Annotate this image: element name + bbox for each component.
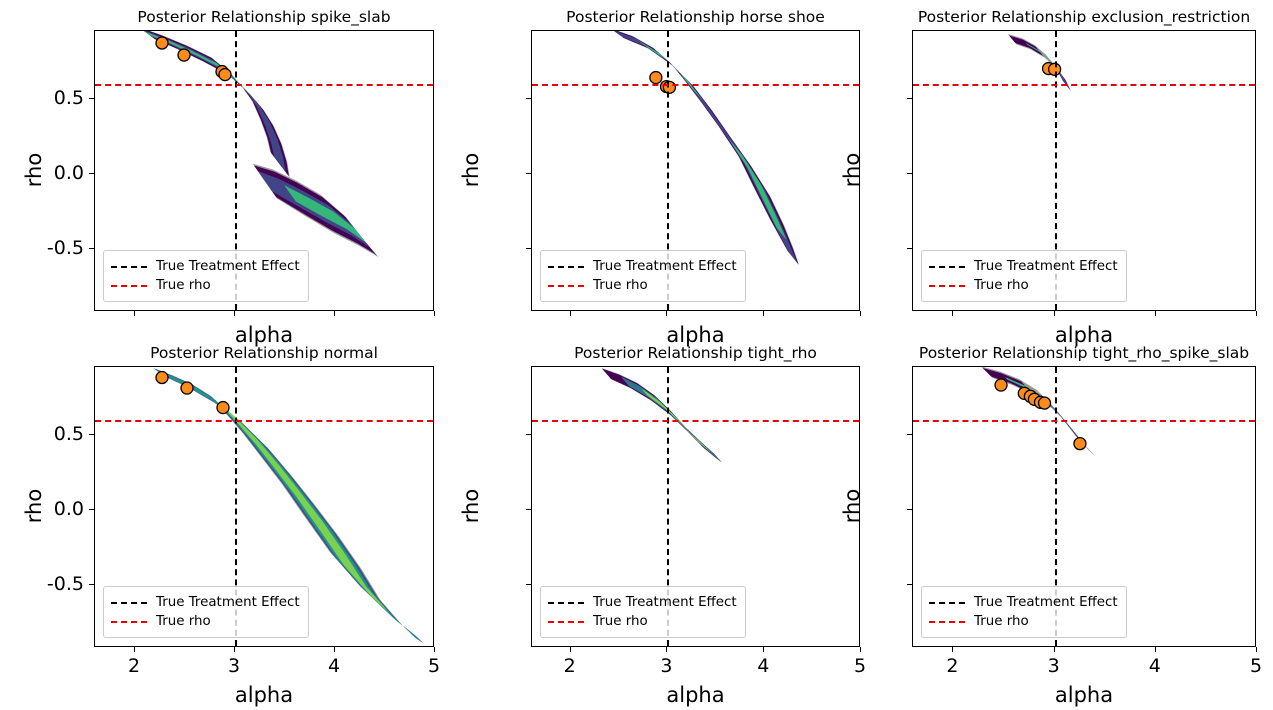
y-tick	[89, 434, 94, 435]
legend: True Treatment EffectTrue rho	[103, 586, 309, 638]
y-tick	[89, 98, 94, 99]
x-axis-label: alpha	[912, 683, 1256, 707]
x-tick	[666, 647, 667, 652]
x-tick	[1155, 311, 1156, 316]
legend: True Treatment EffectTrue rho	[103, 250, 309, 302]
legend: True Treatment EffectTrue rho	[540, 250, 746, 302]
legend-line-swatch	[548, 285, 584, 287]
posterior-sample-point	[219, 69, 231, 81]
plot-area: True Treatment EffectTrue rho	[531, 366, 860, 647]
y-tick-label: -0.5	[20, 237, 84, 259]
x-tick	[570, 647, 571, 652]
x-tick	[334, 647, 335, 652]
plot-area: True Treatment EffectTrue rho	[912, 30, 1256, 311]
plot-area: True Treatment EffectTrue rho	[94, 366, 434, 647]
x-axis-label: alpha	[94, 683, 434, 707]
legend-label: True Treatment Effect	[593, 593, 737, 612]
x-tick-label: 2	[946, 655, 958, 677]
legend-entry: True Treatment Effect	[929, 257, 1118, 276]
y-tick	[526, 248, 531, 249]
y-tick	[907, 584, 912, 585]
true-rho-line	[532, 420, 859, 422]
legend: True Treatment EffectTrue rho	[540, 586, 746, 638]
legend-entry: True rho	[111, 612, 300, 631]
y-axis-label: rho	[459, 110, 483, 230]
legend-label: True rho	[593, 276, 648, 295]
y-tick	[89, 584, 94, 585]
legend: True Treatment EffectTrue rho	[921, 250, 1127, 302]
x-tick-label: 2	[564, 655, 576, 677]
y-tick	[526, 173, 531, 174]
legend-line-swatch	[929, 602, 965, 604]
x-tick	[1256, 311, 1257, 316]
x-tick	[234, 311, 235, 316]
legend-entry: True rho	[548, 276, 737, 295]
legend-entry: True Treatment Effect	[548, 593, 737, 612]
x-axis-label: alpha	[531, 683, 860, 707]
y-tick	[907, 248, 912, 249]
posterior-sample-point	[1039, 397, 1051, 409]
y-tick-label: 0.5	[20, 423, 84, 445]
x-tick-label: 3	[1048, 655, 1060, 677]
panel-title: Posterior Relationship exclusion_restric…	[792, 8, 1273, 26]
panel-title: Posterior Relationship tight_rho_spike_s…	[792, 344, 1273, 362]
y-axis-label: rho	[840, 110, 864, 230]
x-tick	[234, 647, 235, 652]
legend-entry: True rho	[929, 612, 1118, 631]
true-rho-line	[913, 84, 1255, 86]
x-tick	[1054, 647, 1055, 652]
y-axis-label: rho	[22, 446, 46, 566]
posterior-sample-point	[650, 72, 662, 84]
x-tick-label: 4	[757, 655, 769, 677]
posterior-sample-point	[181, 382, 193, 394]
plot-area: True Treatment EffectTrue rho	[912, 366, 1256, 647]
posterior-sample-point	[1074, 438, 1086, 450]
legend-label: True rho	[156, 612, 211, 631]
legend-label: True Treatment Effect	[974, 257, 1118, 276]
x-tick	[1054, 311, 1055, 316]
x-tick	[1155, 647, 1156, 652]
y-tick-label: 0.5	[20, 87, 84, 109]
posterior-sample-point	[156, 37, 168, 49]
x-tick-label: 5	[428, 655, 440, 677]
legend-line-swatch	[929, 266, 965, 268]
legend-line-swatch	[548, 266, 584, 268]
legend-entry: True Treatment Effect	[548, 257, 737, 276]
true-rho-line	[913, 420, 1255, 422]
legend-line-swatch	[929, 621, 965, 623]
y-axis-label: rho	[459, 446, 483, 566]
y-tick	[526, 584, 531, 585]
x-tick	[860, 647, 861, 652]
posterior-sample-point	[217, 402, 229, 414]
true-rho-line	[532, 84, 859, 86]
y-tick	[89, 173, 94, 174]
legend-label: True Treatment Effect	[974, 593, 1118, 612]
y-tick	[907, 173, 912, 174]
legend-entry: True Treatment Effect	[111, 593, 300, 612]
legend-label: True rho	[974, 612, 1029, 631]
legend-label: True rho	[974, 276, 1029, 295]
y-axis-label: rho	[840, 446, 864, 566]
posterior-sample-point	[156, 372, 168, 384]
legend-line-swatch	[111, 621, 147, 623]
x-tick	[334, 311, 335, 316]
legend-label: True rho	[593, 612, 648, 631]
y-tick	[89, 248, 94, 249]
y-tick	[526, 434, 531, 435]
x-tick-label: 4	[328, 655, 340, 677]
true-rho-line	[95, 84, 433, 86]
x-tick	[1256, 647, 1257, 652]
x-tick-label: 3	[228, 655, 240, 677]
legend-entry: True rho	[111, 276, 300, 295]
x-tick-label: 4	[1149, 655, 1161, 677]
x-tick-label: 2	[128, 655, 140, 677]
y-tick	[89, 509, 94, 510]
x-tick	[434, 647, 435, 652]
legend-entry: True rho	[548, 612, 737, 631]
x-tick	[952, 311, 953, 316]
y-axis-label: rho	[22, 110, 46, 230]
x-tick	[763, 647, 764, 652]
x-tick	[570, 311, 571, 316]
posterior-sample-point	[995, 379, 1007, 391]
x-tick	[434, 311, 435, 316]
legend-line-swatch	[111, 285, 147, 287]
posterior-sample-point	[178, 49, 190, 61]
legend-line-swatch	[111, 266, 147, 268]
y-tick	[907, 509, 912, 510]
legend: True Treatment EffectTrue rho	[921, 586, 1127, 638]
x-tick-label: 5	[1250, 655, 1262, 677]
figure-canvas: Posterior Relationship spike_slabTrue Tr…	[0, 0, 1273, 710]
legend-line-swatch	[929, 285, 965, 287]
y-tick	[526, 98, 531, 99]
x-tick	[952, 647, 953, 652]
y-tick	[907, 434, 912, 435]
legend-line-swatch	[111, 602, 147, 604]
y-tick	[907, 98, 912, 99]
x-tick	[763, 311, 764, 316]
legend-entry: True Treatment Effect	[111, 257, 300, 276]
legend-entry: True Treatment Effect	[929, 593, 1118, 612]
y-tick	[526, 509, 531, 510]
legend-label: True Treatment Effect	[156, 593, 300, 612]
x-tick	[134, 311, 135, 316]
x-tick-label: 5	[854, 655, 866, 677]
legend-line-swatch	[548, 602, 584, 604]
legend-label: True rho	[156, 276, 211, 295]
legend-label: True Treatment Effect	[156, 257, 300, 276]
legend-line-swatch	[548, 621, 584, 623]
y-tick-label: -0.5	[20, 573, 84, 595]
x-tick	[666, 311, 667, 316]
legend-label: True Treatment Effect	[593, 257, 737, 276]
plot-area: True Treatment EffectTrue rho	[94, 30, 434, 311]
x-tick	[860, 311, 861, 316]
x-tick-label: 3	[660, 655, 672, 677]
legend-entry: True rho	[929, 276, 1118, 295]
plot-area: True Treatment EffectTrue rho	[531, 30, 860, 311]
x-tick	[134, 647, 135, 652]
true-rho-line	[95, 420, 433, 422]
